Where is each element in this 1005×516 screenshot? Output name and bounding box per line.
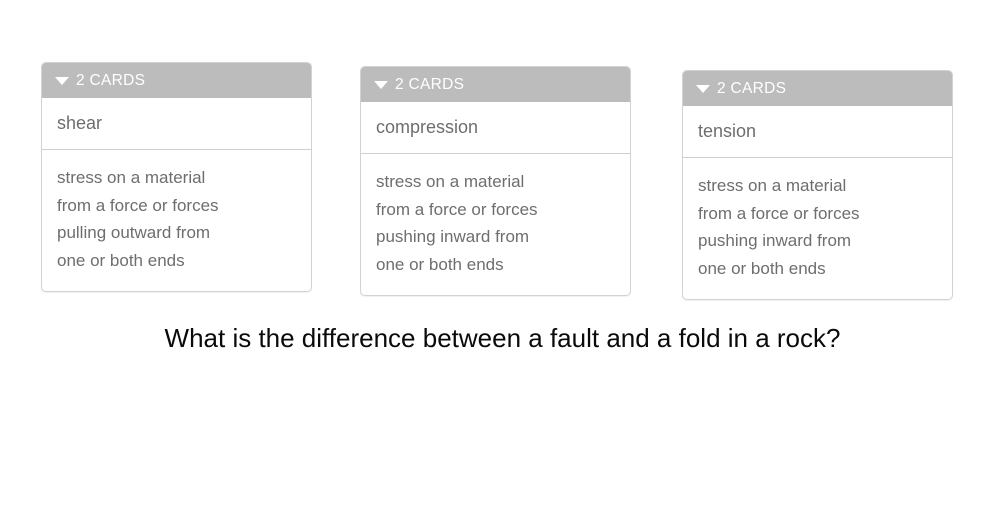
question-text: What is the difference between a fault a…	[165, 323, 841, 353]
flashcard-term: tension	[698, 121, 756, 143]
flashcard-term-row[interactable]: compression	[361, 102, 630, 154]
flashcard-term: shear	[57, 113, 102, 135]
chevron-down-icon[interactable]	[374, 81, 388, 89]
card-count-label: 2 CARDS	[76, 73, 145, 89]
flashcard-definition-row[interactable]: stress on a material from a force or for…	[42, 150, 311, 286]
chevron-down-icon[interactable]	[696, 85, 710, 93]
flashcard-header[interactable]: 2 CARDS	[361, 67, 630, 102]
flashcard[interactable]: 2 CARDStensionstress on a material from …	[682, 70, 953, 300]
flashcard-term: compression	[376, 117, 478, 139]
flashcard-term-row[interactable]: tension	[683, 106, 952, 158]
question-container: What is the difference between a fault a…	[0, 322, 1005, 355]
flashcard-definition-row[interactable]: stress on a material from a force or for…	[683, 158, 952, 294]
flashcard[interactable]: 2 CARDScompressionstress on a material f…	[360, 66, 631, 296]
flashcard-header[interactable]: 2 CARDS	[42, 63, 311, 98]
chevron-down-icon[interactable]	[55, 77, 69, 85]
flashcard-term-row[interactable]: shear	[42, 98, 311, 150]
flashcard-definition: stress on a material from a force or for…	[57, 168, 219, 270]
card-count-label: 2 CARDS	[395, 77, 464, 93]
flashcard-row: 2 CARDSshearstress on a material from a …	[0, 0, 1005, 310]
flashcard-header[interactable]: 2 CARDS	[683, 71, 952, 106]
flashcard-definition: stress on a material from a force or for…	[376, 172, 538, 274]
flashcard[interactable]: 2 CARDSshearstress on a material from a …	[41, 62, 312, 292]
flashcard-definition-row[interactable]: stress on a material from a force or for…	[361, 154, 630, 290]
flashcard-definition: stress on a material from a force or for…	[698, 176, 860, 278]
card-count-label: 2 CARDS	[717, 81, 786, 97]
